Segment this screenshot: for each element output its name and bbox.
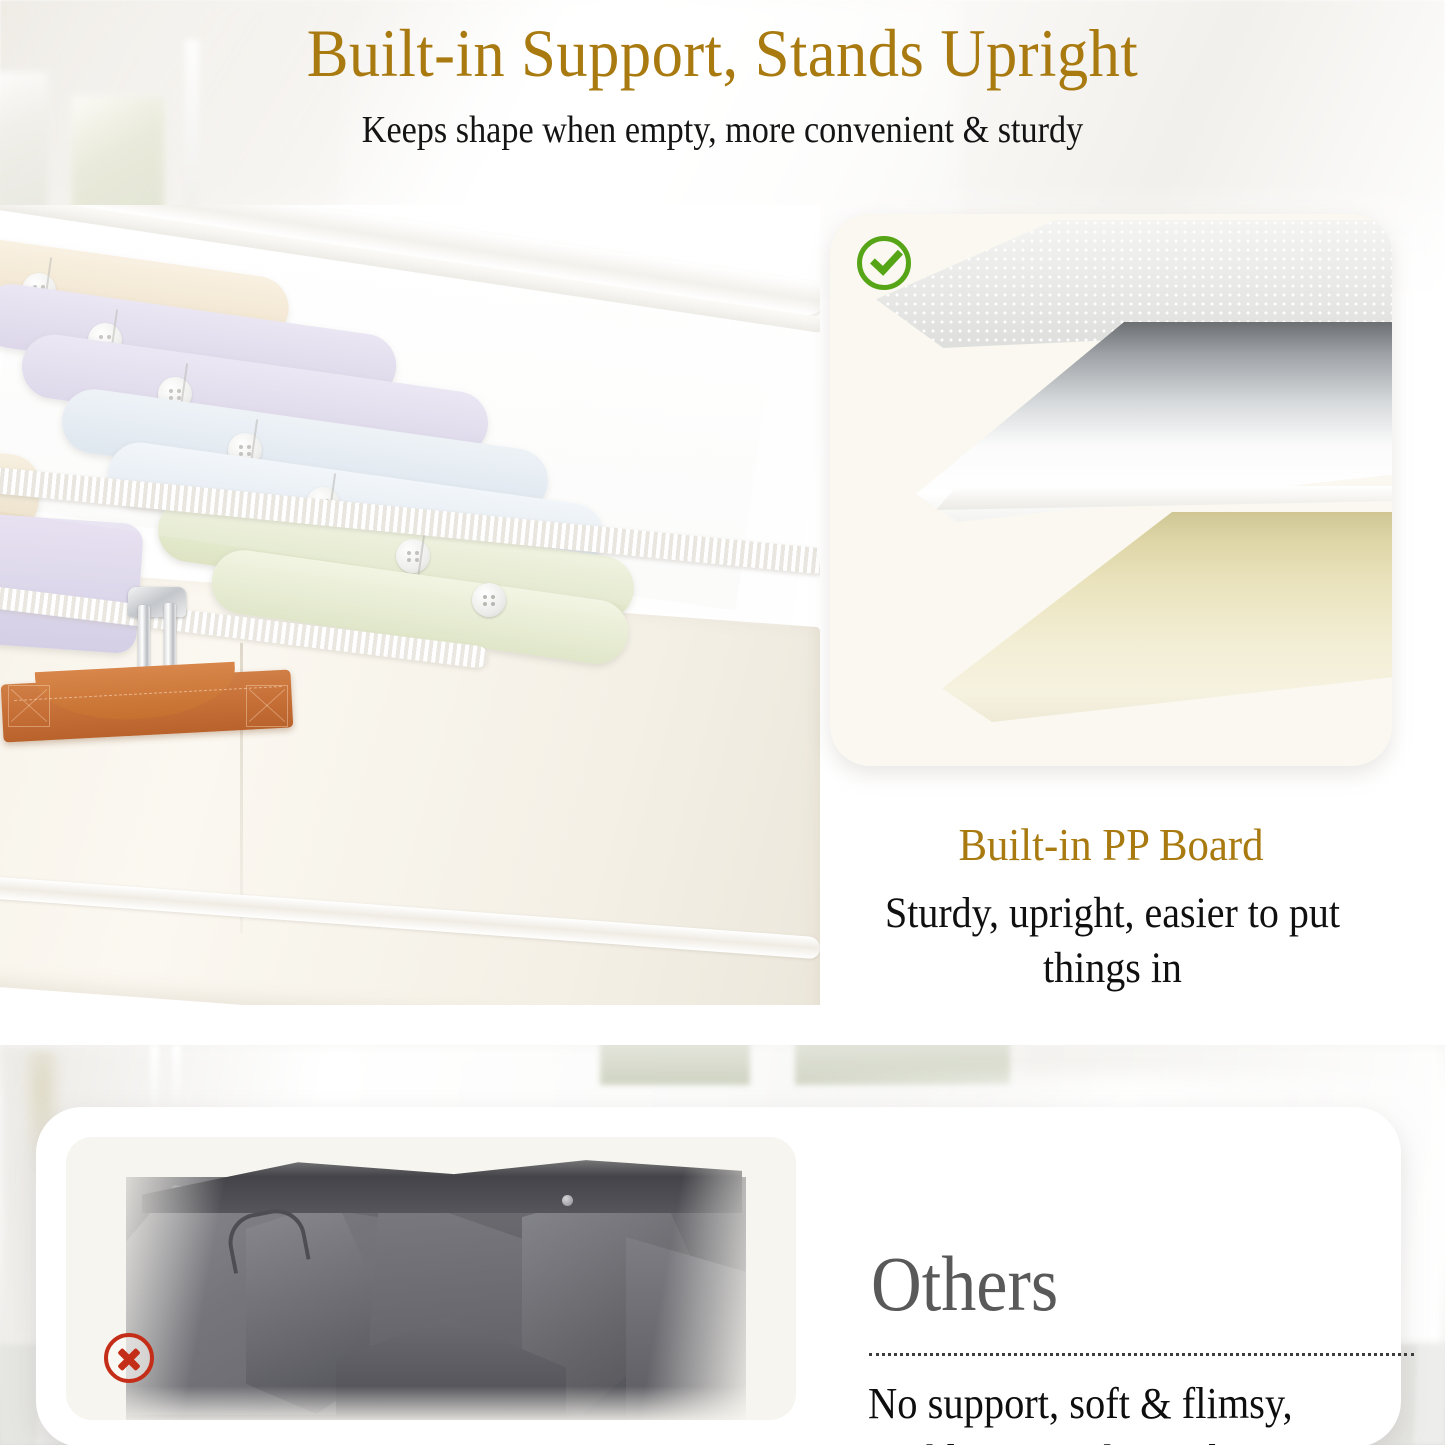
wall-art-frame-left bbox=[600, 1045, 750, 1085]
foam-padding-sheet bbox=[942, 512, 1392, 722]
green-check-circle-icon bbox=[857, 236, 911, 290]
others-product-photo bbox=[66, 1137, 796, 1420]
others-comparison-card: Others No support, soft & flimsy, unable… bbox=[36, 1107, 1401, 1445]
others-title: Others bbox=[871, 1245, 1058, 1323]
product-photo-storage-bag bbox=[0, 205, 820, 1005]
red-cross-circle-icon bbox=[104, 1333, 154, 1383]
pp-board-sheet-edge bbox=[926, 486, 1392, 510]
handle-rivet-stitch-left bbox=[8, 685, 50, 727]
pp-board-description: Sturdy, upright, easier to put things in bbox=[840, 886, 1384, 996]
shirt-button-icon bbox=[472, 583, 506, 617]
bottom-comparison-section: Others No support, soft & flimsy, unable… bbox=[0, 1045, 1445, 1445]
leather-pull-handle bbox=[2, 665, 292, 747]
handle-rivet-stitch-right bbox=[246, 685, 288, 727]
others-description: No support, soft & flimsy, unable to sta… bbox=[868, 1375, 1383, 1445]
top-section: Built-in Support, Stands Upright Keeps s… bbox=[0, 0, 1445, 1045]
page-subtitle: Keeps shape when empty, more convenient … bbox=[72, 108, 1373, 152]
pp-board-title: Built-in PP Board bbox=[850, 818, 1373, 871]
pp-board-detail-card bbox=[830, 214, 1392, 766]
photo-edge-fade bbox=[126, 1137, 746, 1420]
zipper-slider-icon bbox=[128, 587, 186, 617]
infographic-page: Built-in Support, Stands Upright Keeps s… bbox=[0, 0, 1445, 1445]
grey-collapsed-fabric-organizer bbox=[126, 1137, 746, 1420]
page-title: Built-in Support, Stands Upright bbox=[58, 18, 1387, 89]
room-window-left bbox=[0, 72, 48, 222]
others-divider bbox=[869, 1353, 1414, 1356]
